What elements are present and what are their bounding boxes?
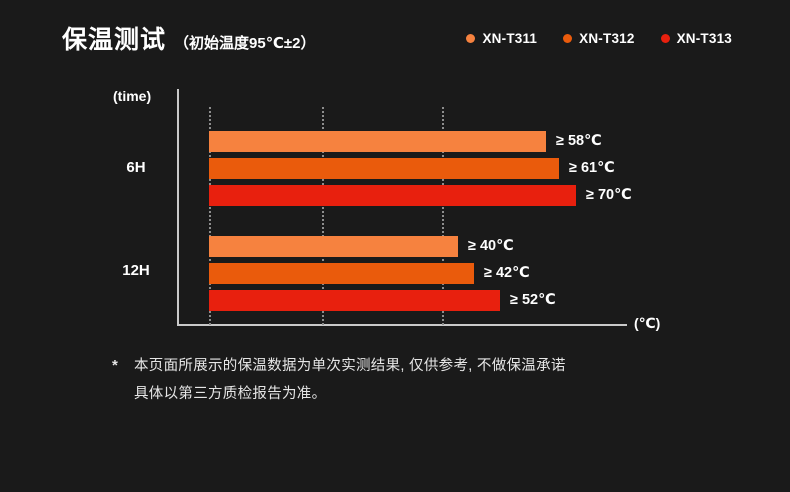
y-axis-label: (time) [113,88,151,104]
bar-value-label: ≥ 52℃ [510,290,556,311]
bar-6h-xn-t311 [209,131,546,152]
bar-value-label: ≥ 61℃ [569,158,615,179]
y-axis-line [177,89,179,326]
footnote-text-1: 本页面所展示的保温数据为单次实测结果, 仅供参考, 不做保温承诺 [134,352,566,380]
bar-12h-xn-t311 [209,236,458,257]
footnote-marker: * [112,352,134,380]
x-axis-line [177,324,627,326]
bar-6h-xn-t312 [209,158,559,179]
bar-12h-xn-t313 [209,290,500,311]
category-label-6h: 6H [110,159,162,176]
bar-12h-xn-t312 [209,263,474,284]
bar-6h-xn-t313 [209,185,576,206]
infographic-panel: 保温测试 （初始温度95℃±2） XN-T311XN-T312XN-T313 (… [0,0,790,492]
bar-value-label: ≥ 40℃ [468,236,514,257]
footnote-text-2: 具体以第三方质检报告为准。 [134,380,326,408]
category-label-12h: 12H [110,262,162,279]
bar-value-label: ≥ 42℃ [484,263,530,284]
footnote-line-2: 具体以第三方质检报告为准。 [112,380,712,408]
footnote-line-1: * 本页面所展示的保温数据为单次实测结果, 仅供参考, 不做保温承诺 [112,352,712,380]
footnote: * 本页面所展示的保温数据为单次实测结果, 仅供参考, 不做保温承诺 具体以第三… [112,352,712,408]
chart-plot-area: (time) (℃) 6H12H ≥ 58℃≥ 61℃≥ 70℃≥ 40℃≥ 4… [0,0,790,492]
x-axis-label: (℃) [634,315,660,332]
bar-value-label: ≥ 58℃ [556,131,602,152]
bar-value-label: ≥ 70℃ [586,185,632,206]
